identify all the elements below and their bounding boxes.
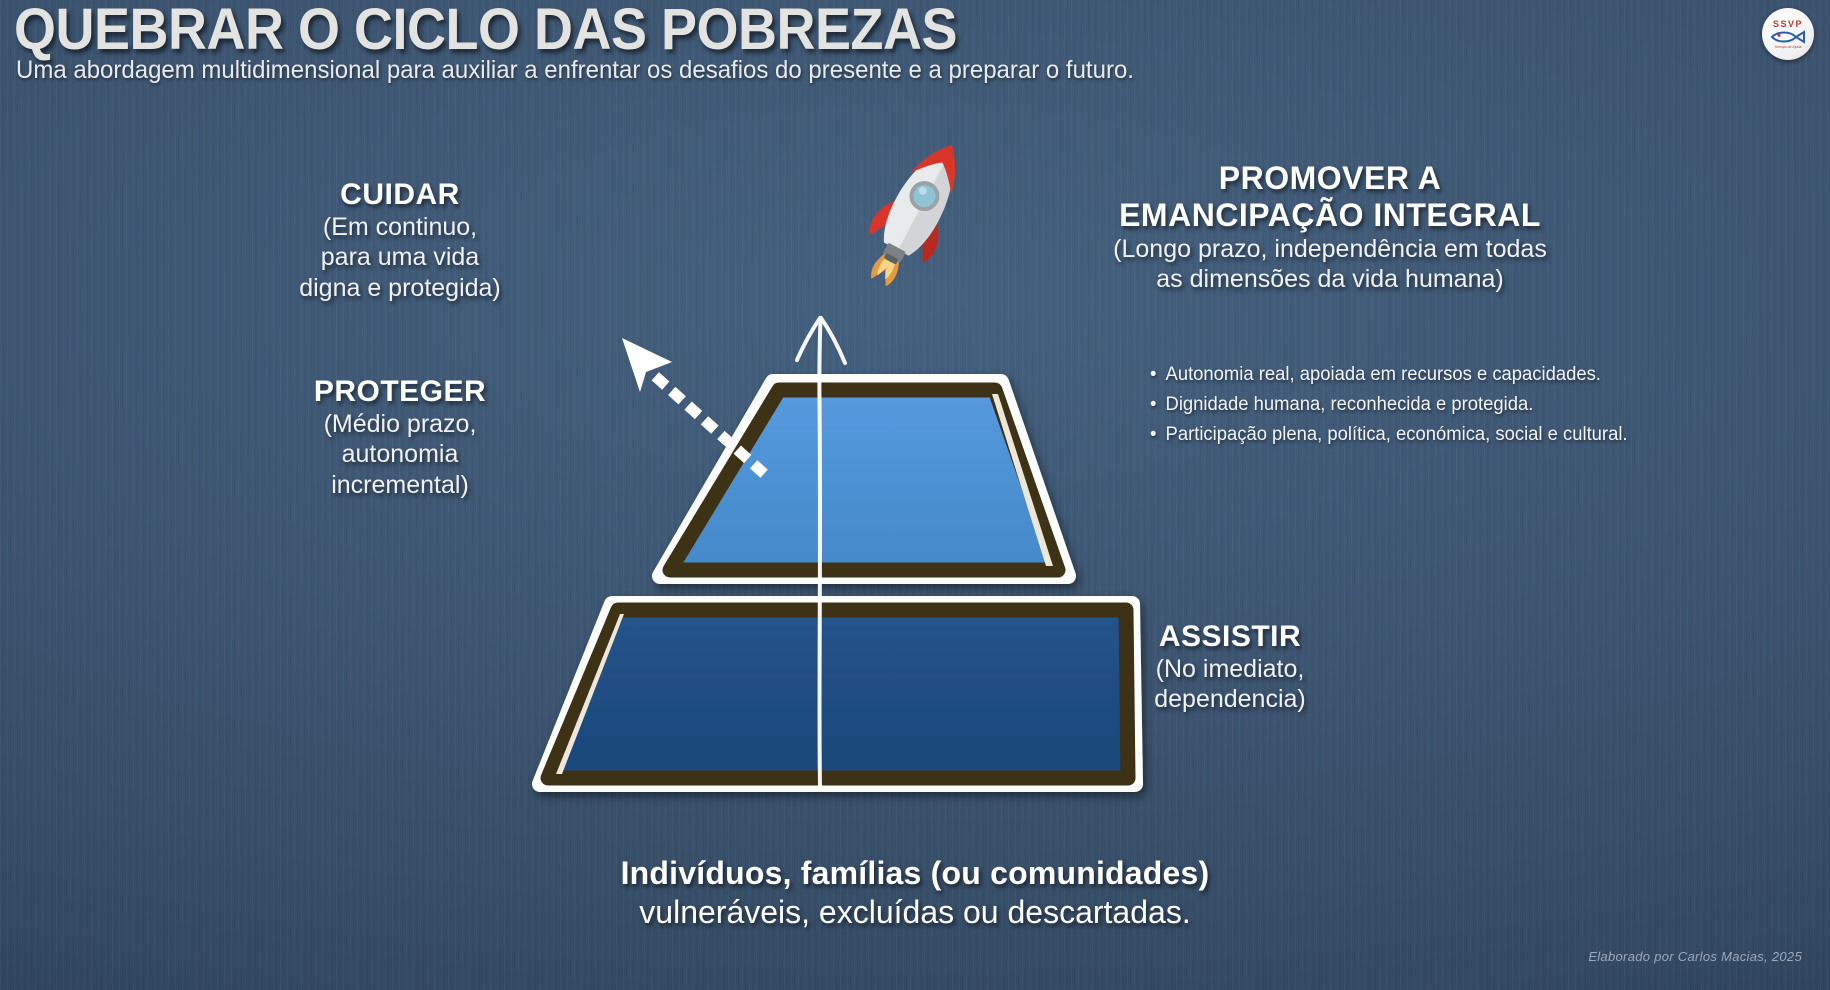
dotted-arrow-icon bbox=[622, 338, 760, 470]
label-cuidar: CUIDAR (Em continuo, para uma vida digna… bbox=[250, 178, 550, 303]
label-assistir: ASSISTIR (No imediato, dependencia) bbox=[1090, 620, 1370, 715]
proteger-line-2: autonomia bbox=[250, 439, 550, 470]
cuidar-line-2: para uma vida bbox=[250, 242, 550, 273]
promover-heading-line-1: PROMOVER A bbox=[1020, 160, 1640, 197]
author-credit: Elaborado por Carlos Macias, 2025 bbox=[1588, 949, 1802, 964]
proteger-line-1: (Médio prazo, bbox=[250, 409, 550, 440]
list-item: •Dignidade humana, reconhecida e protegi… bbox=[1150, 390, 1693, 420]
cuidar-line-3: digna e protegida) bbox=[250, 273, 550, 304]
ssvp-logo: SSVP Serviço de Ajuda bbox=[1762, 8, 1814, 60]
rocket-icon bbox=[856, 132, 976, 292]
bullet-icon: • bbox=[1150, 360, 1166, 390]
bullet-text: Autonomia real, apoiada em recursos e ca… bbox=[1166, 364, 1601, 385]
list-item: •Participação plena, política, económica… bbox=[1150, 420, 1693, 450]
caption-line-1: Indivíduos, famílias (ou comunidades) bbox=[0, 855, 1830, 892]
promover-sub-line-1: (Longo prazo, independência em todas bbox=[1020, 234, 1640, 265]
benefits-list: •Autonomia real, apoiada em recursos e c… bbox=[1150, 360, 1693, 449]
infographic-canvas: QUEBRAR O CICLO DAS POBREZAS Uma abordag… bbox=[0, 0, 1830, 990]
assistir-line-2: dependencia) bbox=[1090, 684, 1370, 715]
label-proteger: PROTEGER (Médio prazo, autonomia increme… bbox=[250, 375, 550, 500]
bullet-icon: • bbox=[1150, 390, 1166, 420]
proteger-line-3: incremental) bbox=[250, 470, 550, 501]
logo-tagline: Serviço de Ajuda bbox=[1774, 45, 1801, 49]
pyramid-level-proteger bbox=[660, 382, 1068, 576]
cuidar-line-1: (Em continuo, bbox=[250, 212, 550, 243]
logo-initials: SSVP bbox=[1773, 20, 1803, 29]
label-promover: PROMOVER A EMANCIPAÇÃO INTEGRAL (Longo p… bbox=[1020, 160, 1640, 295]
bullet-text: Dignidade humana, reconhecida e protegid… bbox=[1166, 394, 1534, 415]
fish-icon bbox=[1770, 30, 1806, 44]
page-title: QUEBRAR O CICLO DAS POBREZAS bbox=[14, 0, 957, 63]
assistir-line-1: (No imediato, bbox=[1090, 654, 1370, 685]
up-arrow-icon bbox=[797, 318, 845, 786]
proteger-heading: PROTEGER bbox=[250, 375, 550, 409]
assistir-heading: ASSISTIR bbox=[1090, 620, 1370, 654]
promover-heading-line-2: EMANCIPAÇÃO INTEGRAL bbox=[1020, 197, 1640, 234]
pyramid-level-assistir bbox=[540, 604, 1135, 784]
promover-sub-line-2: as dimensões da vida humana) bbox=[1020, 264, 1640, 295]
bullet-icon: • bbox=[1150, 420, 1166, 450]
base-caption: Indivíduos, famílias (ou comunidades) vu… bbox=[0, 855, 1830, 931]
caption-line-2: vulneráveis, excluídas ou descartadas. bbox=[0, 894, 1830, 931]
cuidar-heading: CUIDAR bbox=[250, 178, 550, 212]
page-subtitle: Uma abordagem multidimensional para auxi… bbox=[16, 56, 1134, 85]
bullet-text: Participação plena, política, económica,… bbox=[1166, 424, 1628, 445]
list-item: •Autonomia real, apoiada em recursos e c… bbox=[1150, 360, 1693, 390]
